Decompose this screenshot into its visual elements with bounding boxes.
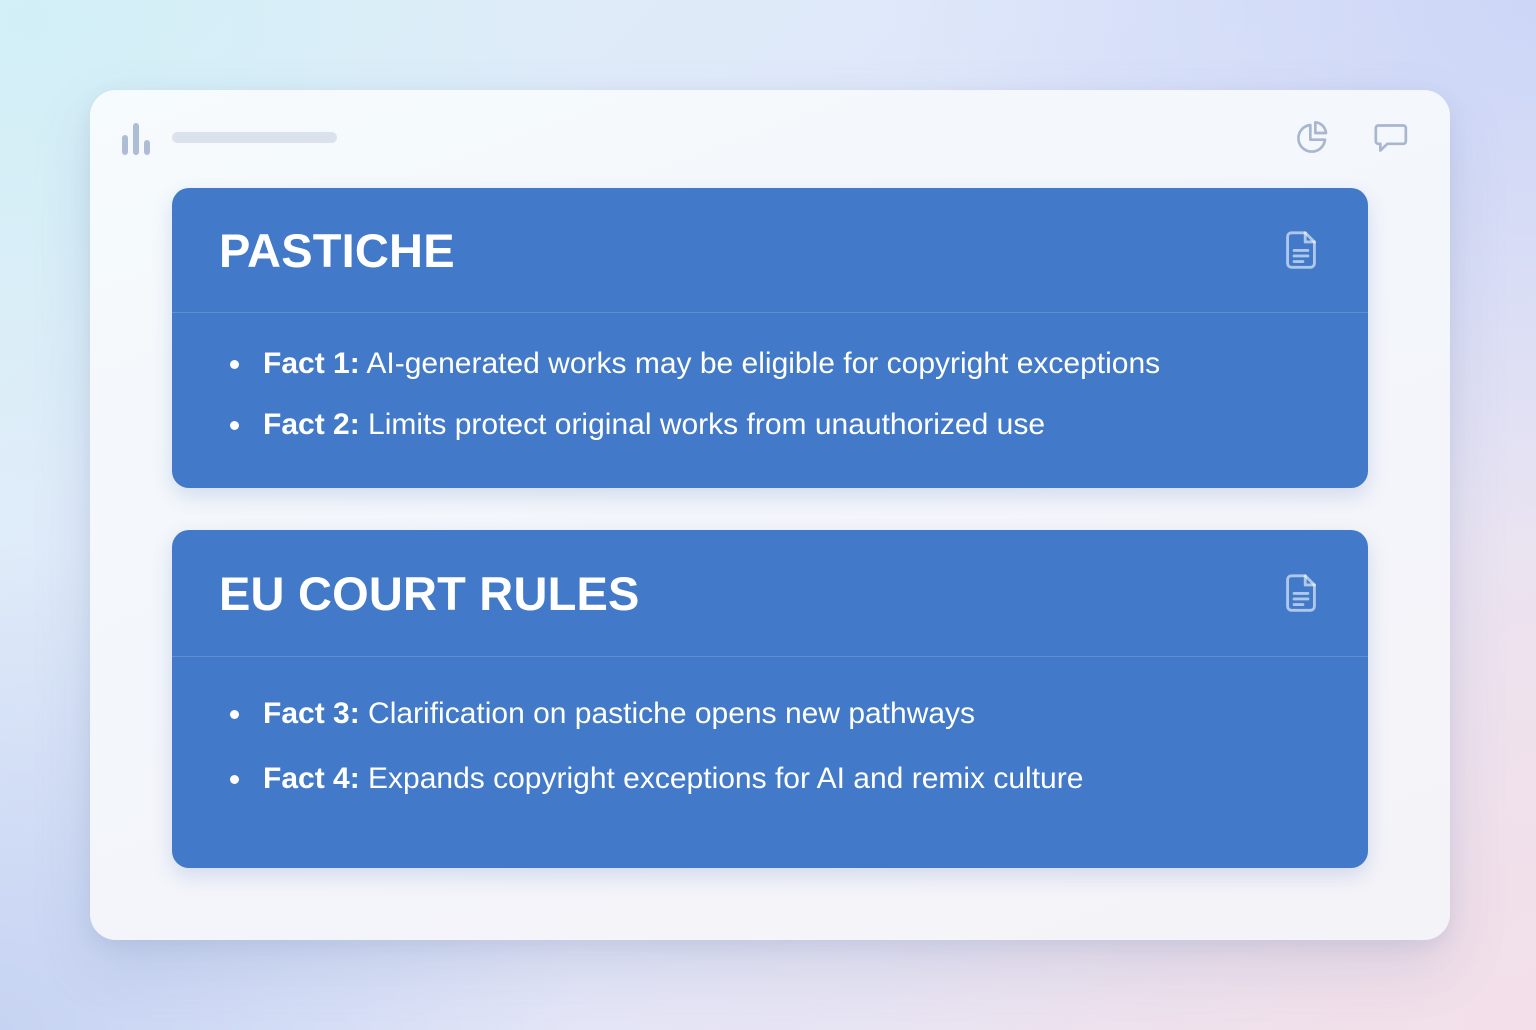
fact-text: Expands copyright exceptions for AI and …	[360, 762, 1084, 795]
document-icon[interactable]	[1278, 227, 1324, 273]
card-header: EU COURT RULES	[172, 530, 1368, 657]
pie-chart-icon[interactable]	[1292, 118, 1332, 158]
fact-list: Fact 3: Clarification on pastiche opens …	[219, 693, 1324, 800]
comment-icon[interactable]	[1370, 118, 1410, 158]
bar-chart-icon[interactable]	[122, 121, 150, 155]
toolbar	[90, 90, 1450, 185]
fact-item: Fact 1: AI-generated works may be eligib…	[219, 343, 1324, 386]
document-icon[interactable]	[1278, 570, 1324, 616]
fact-card-eu-court-rules[interactable]: EU COURT RULES Fact 3: Clarification on …	[172, 530, 1368, 868]
fact-text: Limits protect original works from unaut…	[360, 408, 1045, 441]
fact-item: Fact 4: Expands copyright exceptions for…	[219, 758, 1324, 801]
fact-label: Fact 3:	[263, 697, 360, 730]
fact-card-pastiche[interactable]: PASTICHE Fact 1: AI-generated works may …	[172, 188, 1368, 488]
bar-chart-bar-1	[122, 135, 128, 155]
fact-label: Fact 4:	[263, 762, 360, 795]
fact-list: Fact 1: AI-generated works may be eligib…	[219, 343, 1324, 446]
app-window: PASTICHE Fact 1: AI-generated works may …	[90, 90, 1450, 940]
fact-text: Clarification on pastiche opens new path…	[360, 697, 975, 730]
bar-chart-bar-3	[144, 140, 150, 155]
fact-label: Fact 1:	[263, 347, 360, 380]
card-title: EU COURT RULES	[219, 570, 640, 617]
card-list: PASTICHE Fact 1: AI-generated works may …	[172, 188, 1368, 878]
card-title: PASTICHE	[219, 227, 455, 274]
fact-label: Fact 2:	[263, 408, 360, 441]
toolbar-left-group	[122, 121, 337, 155]
fact-item: Fact 3: Clarification on pastiche opens …	[219, 693, 1324, 736]
fact-item: Fact 2: Limits protect original works fr…	[219, 404, 1324, 447]
card-header: PASTICHE	[172, 188, 1368, 313]
title-placeholder-bar	[172, 132, 337, 143]
bar-chart-bar-2	[133, 123, 139, 155]
toolbar-right-group	[1292, 118, 1410, 158]
card-body: Fact 1: AI-generated works may be eligib…	[172, 313, 1368, 488]
card-body: Fact 3: Clarification on pastiche opens …	[172, 657, 1368, 868]
fact-text: AI-generated works may be eligible for c…	[360, 347, 1160, 380]
